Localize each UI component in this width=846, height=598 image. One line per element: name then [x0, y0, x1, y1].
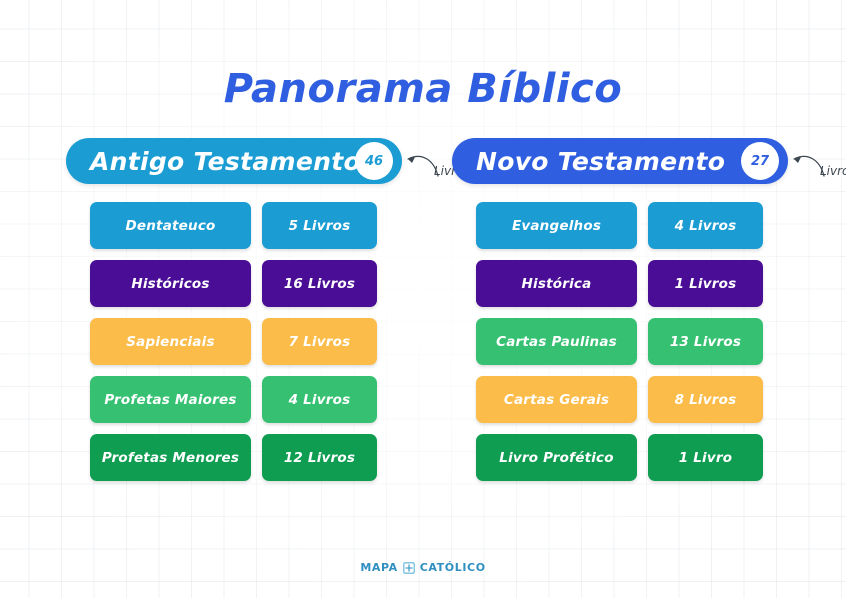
logo-word-mapa: MAPA: [360, 561, 397, 574]
count-badge-old-testament: 46: [355, 142, 393, 180]
row-category-label[interactable]: Históricos: [90, 260, 251, 307]
row-book-count[interactable]: 5 Livros: [262, 202, 377, 249]
row-category-label[interactable]: Sapienciais: [90, 318, 251, 365]
rows-old-testament: Dentateuco5 LivrosHistóricos16 LivrosSap…: [90, 202, 377, 492]
map-cross-icon: [403, 562, 415, 574]
row-category-label[interactable]: Evangelhos: [476, 202, 637, 249]
table-row: Profetas Maiores4 Livros: [90, 376, 377, 423]
row-category-label[interactable]: Cartas Paulinas: [476, 318, 637, 365]
row-category-label[interactable]: Profetas Maiores: [90, 376, 251, 423]
table-row: Cartas Paulinas13 Livros: [476, 318, 763, 365]
row-book-count[interactable]: 4 Livros: [648, 202, 763, 249]
row-category-label[interactable]: Livro Profético: [476, 434, 637, 481]
row-book-count[interactable]: 8 Livros: [648, 376, 763, 423]
page-title: Panorama Bíblico: [0, 66, 846, 112]
row-category-label[interactable]: Profetas Menores: [90, 434, 251, 481]
rows-new-testament: Evangelhos4 LivrosHistórica1 LivrosCarta…: [476, 202, 763, 492]
row-book-count[interactable]: 16 Livros: [262, 260, 377, 307]
table-row: Profetas Menores12 Livros: [90, 434, 377, 481]
table-row: Sapienciais7 Livros: [90, 318, 377, 365]
table-row: Livro Profético1 Livro: [476, 434, 763, 481]
row-book-count[interactable]: 1 Livros: [648, 260, 763, 307]
infographic-canvas: Panorama Bíblico Antigo Testamento 46 Li…: [0, 0, 846, 598]
section-header-old-testament[interactable]: Antigo Testamento 46: [66, 138, 402, 184]
table-row: Dentateuco5 Livros: [90, 202, 377, 249]
table-row: Evangelhos4 Livros: [476, 202, 763, 249]
count-badge-new-testament: 27: [741, 142, 779, 180]
section-new-testament: Novo Testamento 27 Livros Evangelhos4 Li…: [452, 138, 812, 184]
row-category-label[interactable]: Histórica: [476, 260, 637, 307]
table-row: Histórica1 Livros: [476, 260, 763, 307]
table-row: Cartas Gerais8 Livros: [476, 376, 763, 423]
row-book-count[interactable]: 7 Livros: [262, 318, 377, 365]
callout-label-new: Livros: [820, 164, 846, 178]
row-book-count[interactable]: 4 Livros: [262, 376, 377, 423]
row-book-count[interactable]: 12 Livros: [262, 434, 377, 481]
row-book-count[interactable]: 13 Livros: [648, 318, 763, 365]
row-book-count[interactable]: 1 Livro: [648, 434, 763, 481]
logo-word-catolico: CATÓLICO: [420, 561, 486, 574]
row-category-label[interactable]: Cartas Gerais: [476, 376, 637, 423]
row-category-label[interactable]: Dentateuco: [90, 202, 251, 249]
section-old-testament: Antigo Testamento 46 Livros Dentateuco5 …: [66, 138, 426, 184]
section-title-new-testament: Novo Testamento: [476, 147, 725, 176]
table-row: Históricos16 Livros: [90, 260, 377, 307]
footer-logo: MAPA CATÓLICO: [0, 561, 846, 574]
section-header-new-testament[interactable]: Novo Testamento 27: [452, 138, 788, 184]
section-title-old-testament: Antigo Testamento: [90, 147, 361, 176]
